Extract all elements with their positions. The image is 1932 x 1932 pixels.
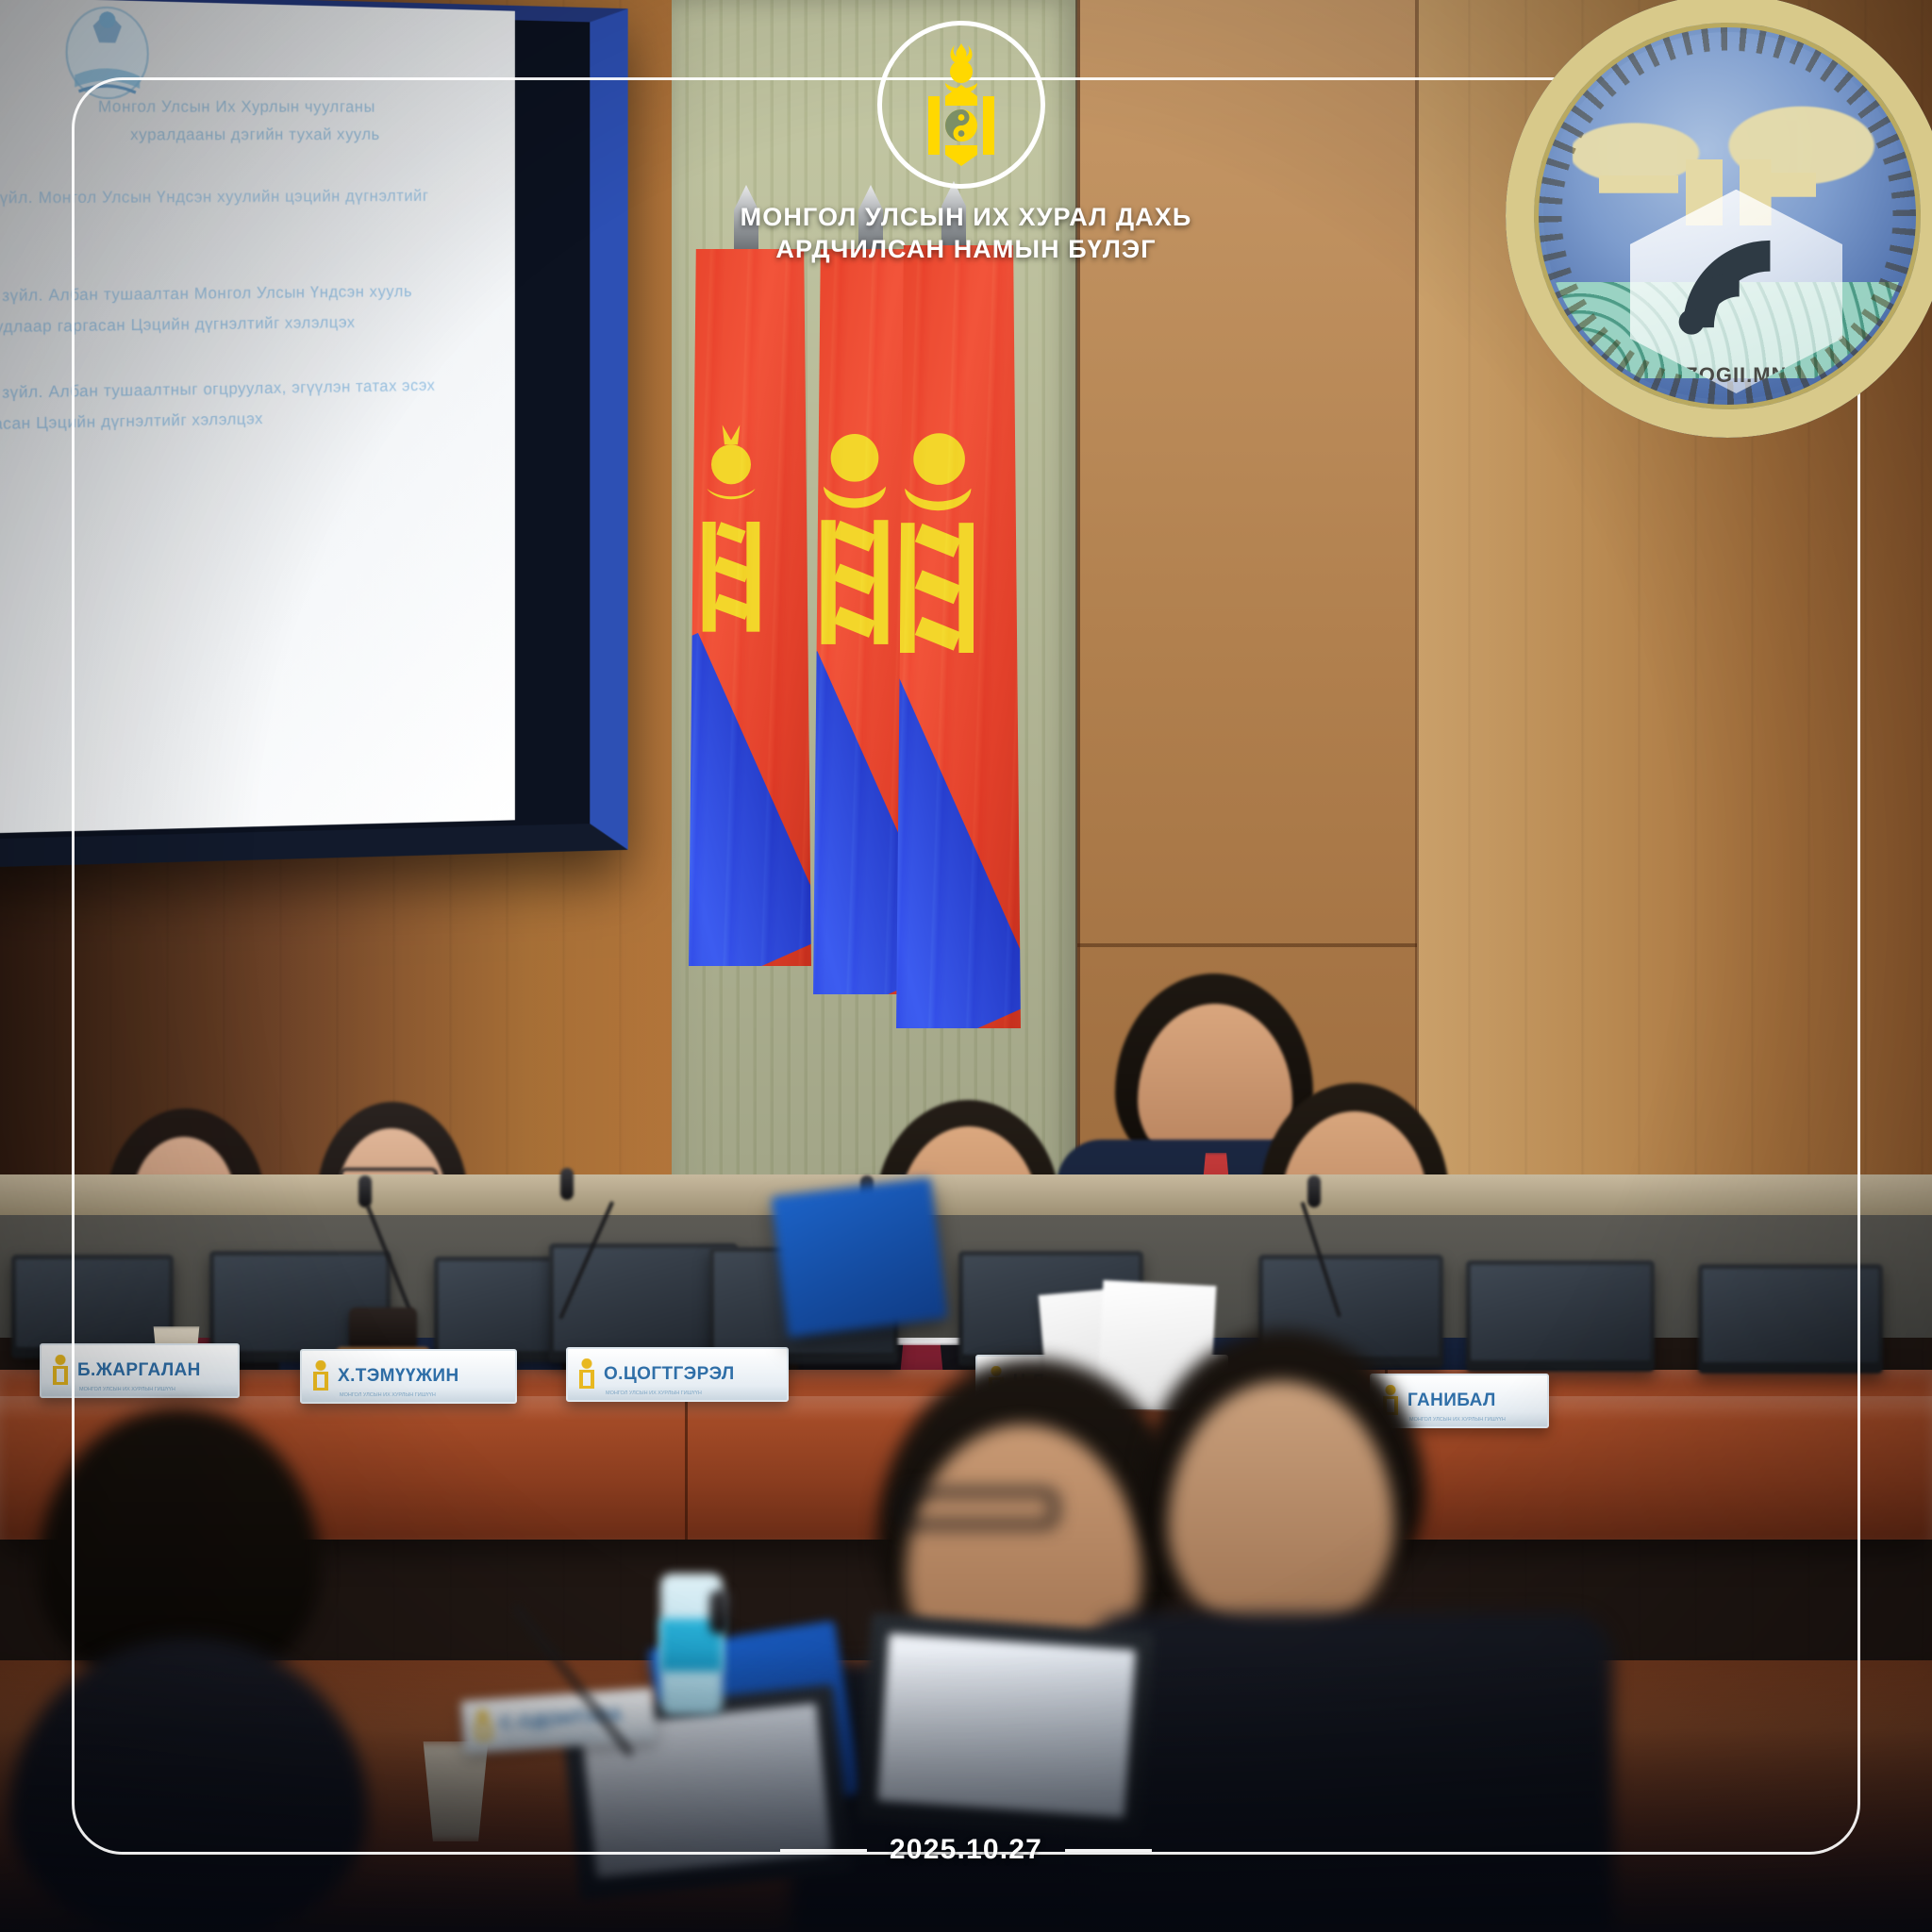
date-rule-left — [780, 1849, 867, 1852]
microphone-head — [358, 1175, 372, 1207]
nameplate-soyombo-icon — [311, 1360, 330, 1392]
slide-content: Монгол Улсын Их Хурлын чуулганы хуралдаа… — [0, 1, 515, 835]
screen-surface: Монгол Улсын Их Хурлын чуулганы хуралдаа… — [0, 0, 515, 835]
date-rule-right — [1065, 1849, 1152, 1852]
laptop-screen — [771, 1177, 947, 1338]
nameplate: Б.ЖАРГАЛАН МОНГОЛ УЛСЫН ИХ ХУРЛЫН ГИШҮҮН — [40, 1343, 240, 1398]
wall-seam-b — [1415, 0, 1419, 1217]
date-text: 2025.10.27 — [890, 1834, 1042, 1866]
delegate-monitor — [1466, 1260, 1655, 1372]
nameplate-subtitle: МОНГОЛ УЛСЫН ИХ ХУРЛЫН ГИШҮҮН — [79, 1387, 175, 1392]
slide-article-2: аар зүйл. Албан тушаалтан Монгол Улсын Ү… — [0, 279, 499, 307]
date-badge: 2025.10.27 — [0, 1834, 1932, 1866]
slide-article-3: аар зүйл. Албан тушаалтныг огцруулах, эг… — [0, 374, 499, 405]
gavel — [349, 1307, 417, 1351]
nameplate-subtitle: МОНГОЛ УЛСЫН ИХ ХУРЛЫН ГИШҮҮН — [606, 1391, 702, 1396]
nameplate-name: ГАНИБАЛ — [1407, 1391, 1496, 1411]
flag-cloth — [689, 249, 811, 966]
nameplate-subtitle: МОНГОЛ УЛСЫН ИХ ХУРЛЫН ГИШҮҮН — [340, 1392, 436, 1398]
wifi-signal-icon — [1664, 218, 1808, 344]
slide-title-line2: хуралдааны дэгийн тухай хууль — [0, 124, 499, 146]
flag-fold-shading — [689, 249, 811, 966]
slide-article-3-sub: аргасан Цэцийн дүгнэлтийг хэлэлцэх — [0, 404, 499, 436]
nameplate-soyombo-icon — [51, 1355, 70, 1387]
slide-title-line1: Монгол Улсын Их Хурлын чуулганы — [0, 95, 499, 118]
wall-seam-a — [1075, 0, 1080, 1217]
monitor-screen — [554, 1248, 733, 1351]
foreground-torso — [1085, 1613, 1613, 1932]
nameplate-subtitle: МОНГОЛ УЛСЫН ИХ ХУРЛЫН ГИШҮҮН — [1409, 1417, 1506, 1423]
monitor-screen — [1471, 1265, 1650, 1360]
delegate-monitor — [1698, 1264, 1883, 1374]
flag-cloth — [896, 245, 1021, 1028]
nameplate-name: О.ЦОГТГЭРЭЛ — [604, 1364, 735, 1385]
microphone-head — [560, 1168, 574, 1200]
nameplate-subtitle: МОНГОЛ УЛСЫН ИХ ХУРЛЫН ГИШҮҮН — [503, 1733, 599, 1745]
nameplate-name: Б.ЖАРГАЛАН — [77, 1360, 201, 1381]
top-center-emblem — [877, 21, 1045, 189]
projection-screen: Монгол Улсын Их Хурлын чуулганы хуралдаа… — [0, 0, 628, 868]
soyombo-icon — [921, 43, 1002, 166]
social-media-photo-card: Монгол Улсын Их Хурлын чуулганы хуралдаа… — [0, 0, 1932, 1932]
laptop-screen — [877, 1633, 1136, 1818]
nameplate: О.ЦОГТГЭРЭЛ МОНГОЛ УЛСЫН ИХ ХУРЛЫН ГИШҮҮ… — [566, 1347, 789, 1402]
slide-article-2-sub: асуудлаар гаргасан Цэцийн дүгнэлтийг хэл… — [0, 310, 499, 340]
nameplate-soyombo-icon — [577, 1358, 596, 1391]
microphone-head — [709, 1591, 730, 1634]
eyeglasses-icon — [898, 1489, 1058, 1528]
flag-fold-shading — [896, 245, 1021, 1028]
monitor-screen — [16, 1259, 169, 1347]
state-seal-plaque: ZOGII.MN — [1506, 0, 1932, 438]
nameplate: Х.ТЭМҮҮЖИН МОНГОЛ УЛСЫН ИХ ХУРЛЫН ГИШҮҮН — [300, 1349, 517, 1404]
wall-seam-line — [1077, 943, 1417, 947]
nameplate-soyombo-icon — [473, 1709, 493, 1742]
monitor-screen — [1703, 1269, 1878, 1362]
nameplate-name: Х.ТЭМҮҮЖИН — [338, 1366, 459, 1387]
microphone-head — [1307, 1175, 1321, 1207]
